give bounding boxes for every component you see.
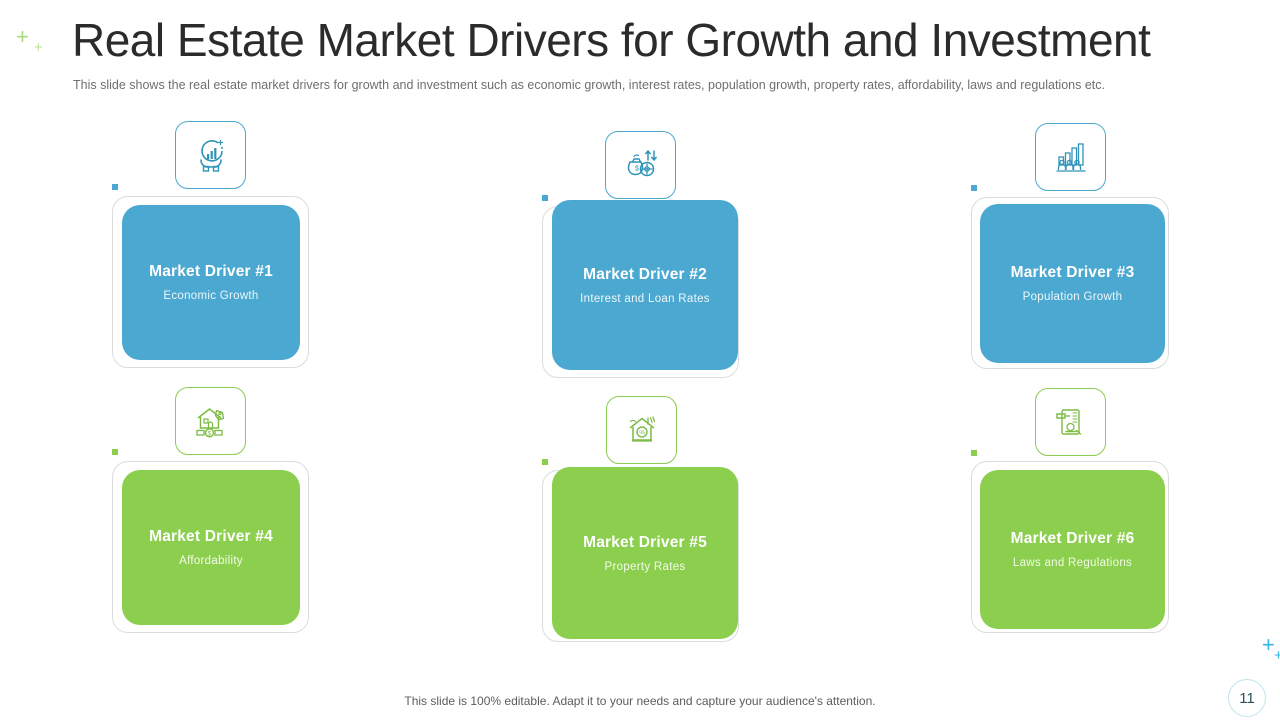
card-subtitle: Interest and Loan Rates bbox=[580, 293, 710, 305]
hands-holding-growth-chart-icon bbox=[191, 135, 231, 175]
icon-badge[interactable]: $ bbox=[175, 387, 246, 455]
house-percent-rate-icon: % bbox=[622, 410, 662, 450]
accent-square-marker bbox=[112, 184, 118, 190]
card-subtitle: Population Growth bbox=[1023, 291, 1123, 303]
page-number-label: 11 bbox=[1239, 690, 1255, 707]
market-driver-card[interactable]: Market Driver #3 Population Growth bbox=[980, 204, 1165, 363]
svg-text:%: % bbox=[639, 430, 645, 437]
slide-subtitle: This slide shows the real estate market … bbox=[73, 76, 1178, 95]
icon-badge[interactable]: $ bbox=[605, 131, 676, 199]
card-subtitle: Laws and Regulations bbox=[1013, 557, 1132, 569]
card-title: Market Driver #4 bbox=[149, 528, 273, 546]
card-subtitle: Property Rates bbox=[605, 561, 686, 573]
card-subtitle: Economic Growth bbox=[163, 290, 258, 302]
accent-square-marker bbox=[112, 449, 118, 455]
sparkle-icon-top-left-large: + bbox=[16, 26, 29, 48]
market-driver-card[interactable]: Market Driver #1 Economic Growth bbox=[122, 205, 300, 360]
card-title: Market Driver #2 bbox=[583, 266, 707, 284]
population-bar-chart-icon bbox=[1051, 137, 1091, 177]
sparkle-icon-bottom-right-large: + bbox=[1262, 634, 1275, 656]
slide-title: Real Estate Market Drivers for Growth an… bbox=[72, 14, 1202, 67]
icon-badge[interactable]: % bbox=[606, 396, 677, 464]
market-driver-card[interactable]: Market Driver #2 Interest and Loan Rates bbox=[552, 200, 738, 370]
page-number-badge: 11 bbox=[1228, 679, 1266, 717]
accent-square-marker bbox=[971, 185, 977, 191]
icon-badge[interactable] bbox=[1035, 123, 1106, 191]
accent-square-marker bbox=[542, 459, 548, 465]
icon-badge[interactable] bbox=[175, 121, 246, 189]
accent-square-marker bbox=[542, 195, 548, 201]
slide-canvas: + + + + Real Estate Market Drivers for G… bbox=[0, 0, 1280, 720]
market-driver-card[interactable]: Market Driver #4 Affordability bbox=[122, 470, 300, 625]
footer-note: This slide is 100% editable. Adapt it to… bbox=[0, 694, 1280, 708]
card-subtitle: Affordability bbox=[179, 555, 243, 567]
icon-badge[interactable] bbox=[1035, 388, 1106, 456]
market-driver-card[interactable]: Market Driver #6 Laws and Regulations bbox=[980, 470, 1165, 629]
sparkle-icon-bottom-right-small: + bbox=[1274, 648, 1280, 663]
accent-square-marker bbox=[971, 450, 977, 456]
house-price-tag-money-icon: $ bbox=[191, 401, 231, 441]
card-title: Market Driver #3 bbox=[1011, 264, 1135, 282]
svg-text:$: $ bbox=[635, 166, 639, 173]
sparkle-icon-top-left-small: + bbox=[34, 40, 43, 55]
gavel-legal-document-icon bbox=[1051, 402, 1091, 442]
market-driver-card[interactable]: Market Driver #5 Property Rates bbox=[552, 467, 738, 639]
card-title: Market Driver #6 bbox=[1011, 530, 1135, 548]
money-bag-interest-arrows-icon: $ bbox=[621, 145, 661, 185]
card-title: Market Driver #5 bbox=[583, 534, 707, 552]
card-title: Market Driver #1 bbox=[149, 263, 273, 281]
